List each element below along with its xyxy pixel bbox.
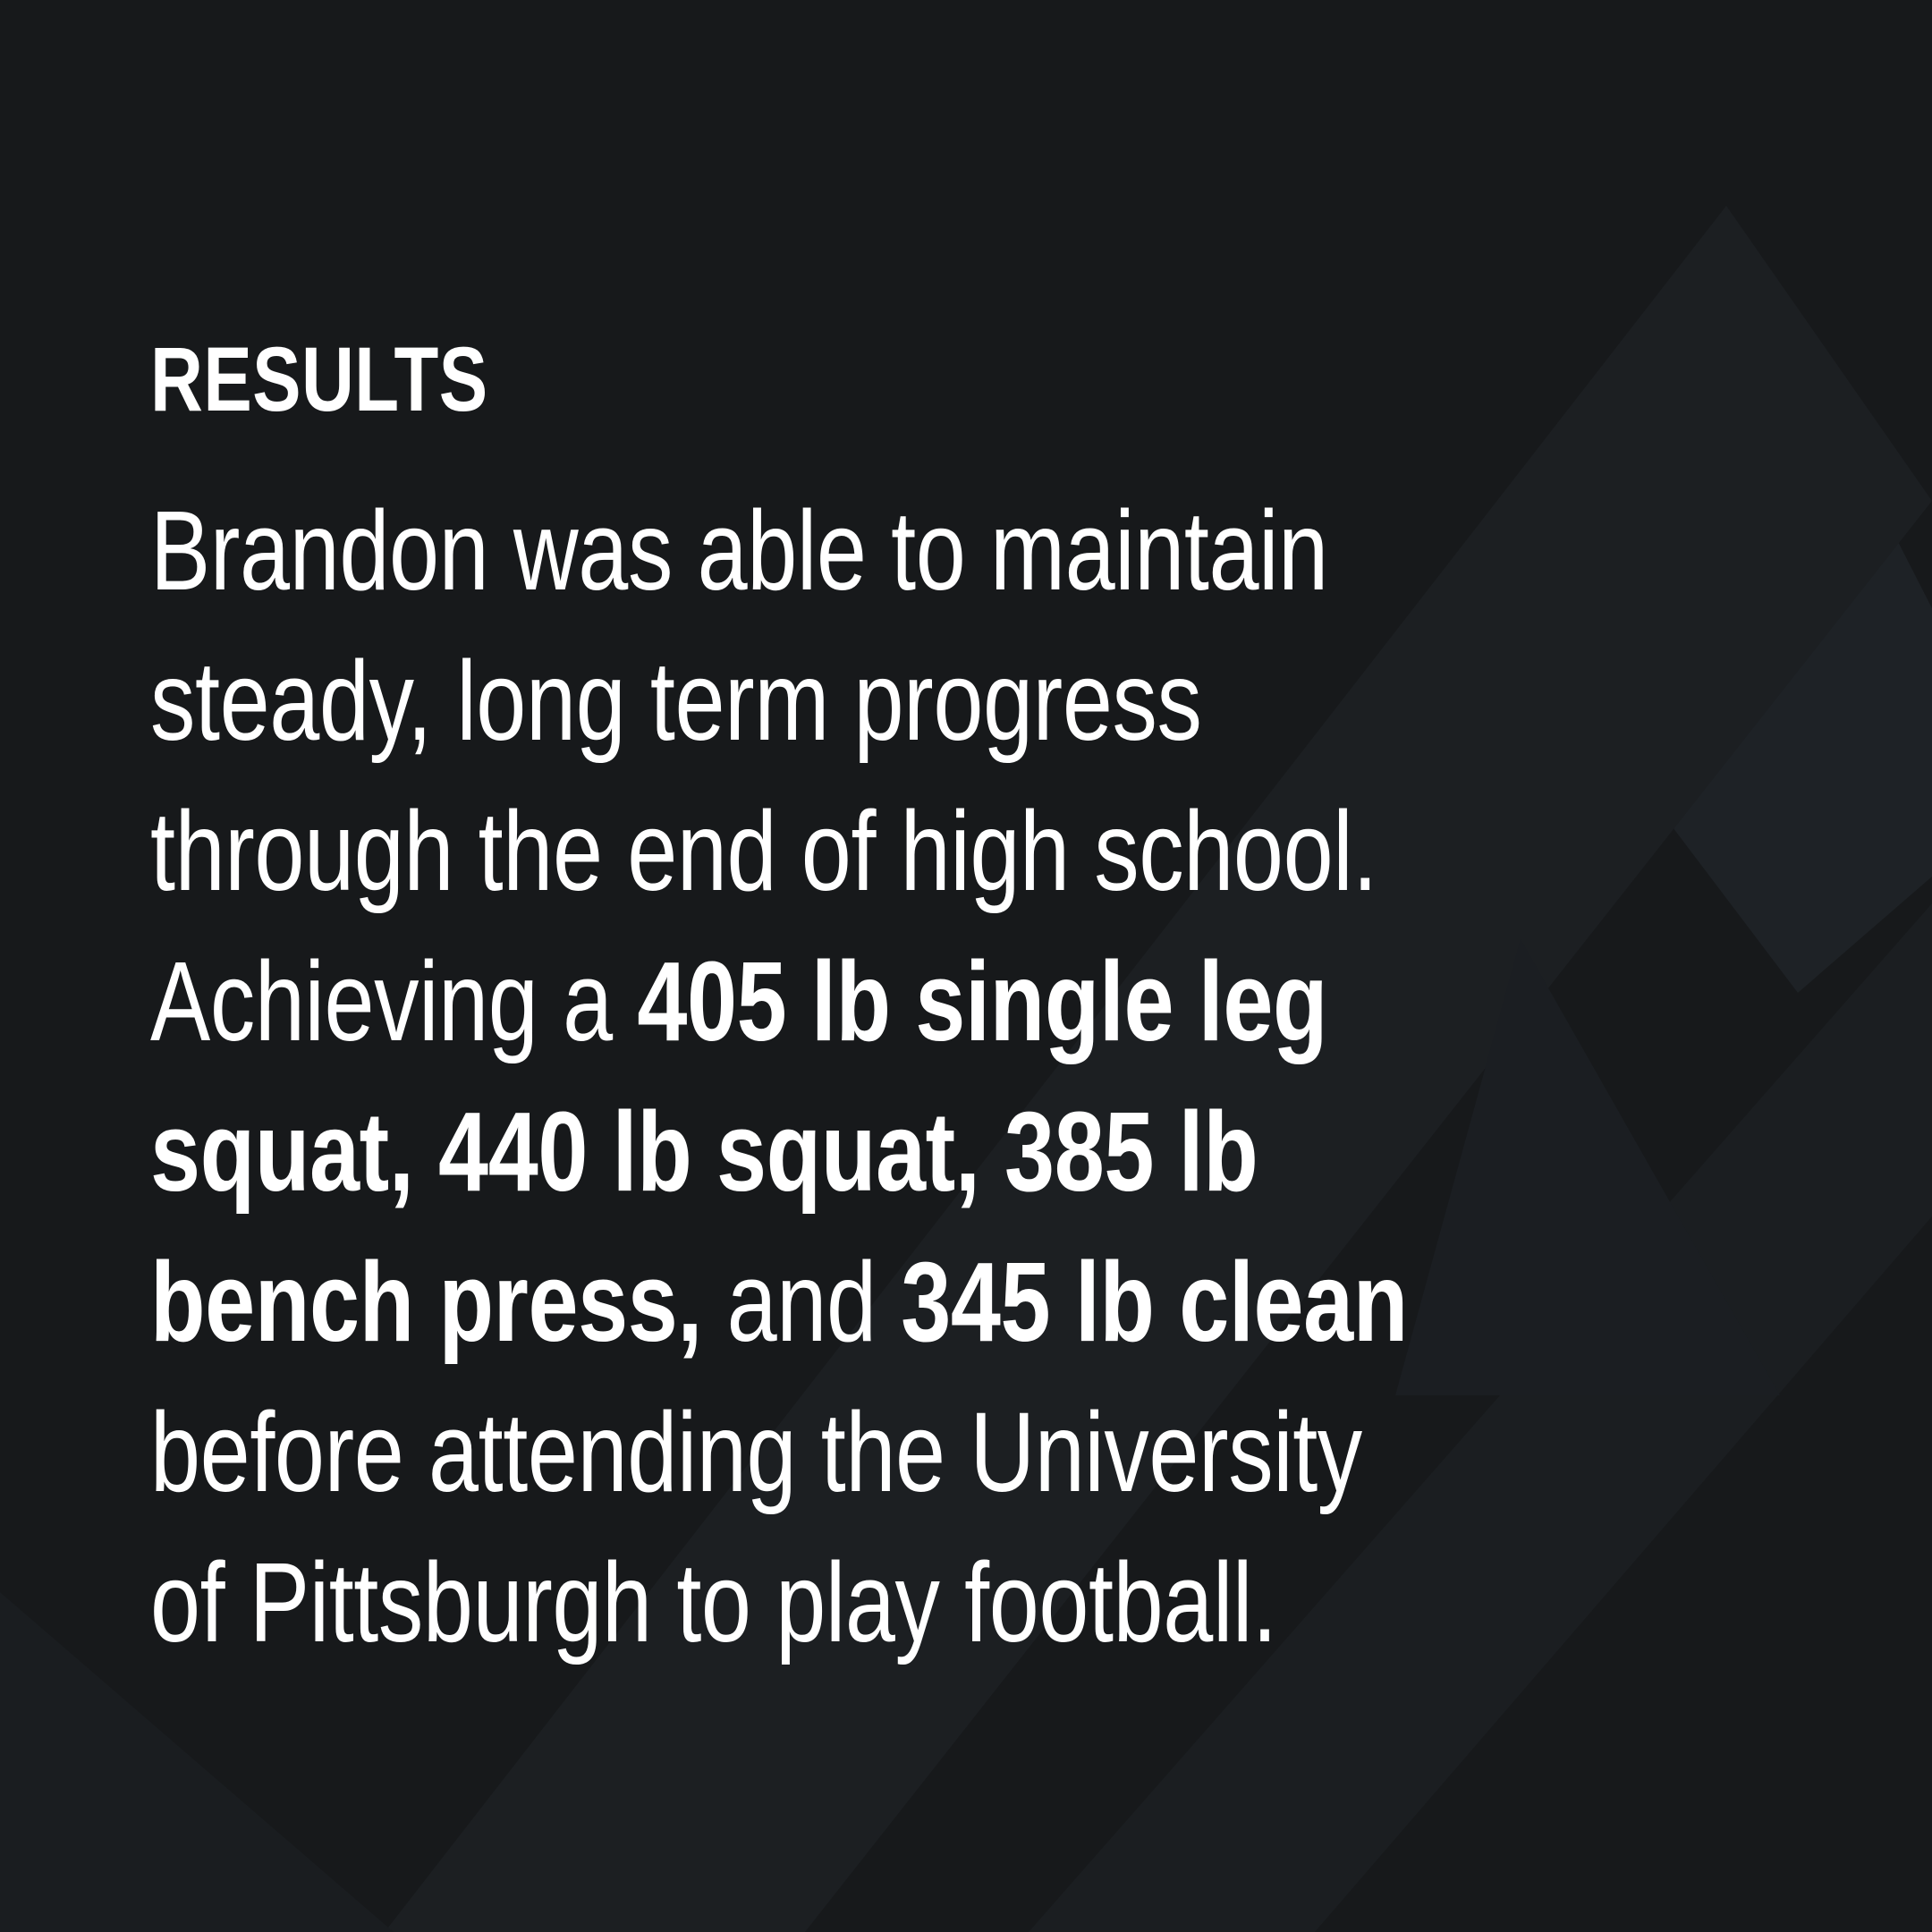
text-run: and: [702, 1239, 901, 1365]
text-run: through the end of high school.: [150, 788, 1377, 914]
text-run: steady, long term progress: [150, 638, 1201, 764]
highlight-run: squat, 440 lb squat, 385 lb: [150, 1089, 1258, 1215]
text-run: Achieving a: [150, 938, 637, 1064]
paragraph-line: squat, 440 lb squat, 385 lb: [150, 1077, 1810, 1227]
paragraph-line: Achieving a 405 lb single leg: [150, 927, 1810, 1077]
text-run: Brandon was able to maintain: [150, 487, 1328, 614]
results-paragraph: Brandon was able to maintain steady, lon…: [150, 476, 1810, 1678]
results-card: RESULTS Brandon was able to maintain ste…: [0, 0, 1932, 1932]
paragraph-line: Brandon was able to maintain: [150, 476, 1810, 626]
highlight-run: 345 lb clean: [901, 1239, 1408, 1365]
paragraph-line: through the end of high school.: [150, 776, 1810, 927]
page-title: RESULTS: [150, 329, 1481, 429]
highlight-run: 405 lb single leg: [637, 938, 1327, 1064]
paragraph-line: bench press, and 345 lb clean: [150, 1227, 1810, 1377]
highlight-run: bench press,: [150, 1239, 702, 1365]
paragraph-line: of Pittsburgh to play football.: [150, 1528, 1810, 1678]
text-run: of Pittsburgh to play football.: [150, 1539, 1277, 1665]
paragraph-line: before attending the University: [150, 1377, 1810, 1528]
paragraph-line: steady, long term progress: [150, 626, 1810, 776]
text-content: RESULTS Brandon was able to maintain ste…: [150, 329, 1814, 1678]
text-run: before attending the University: [150, 1389, 1362, 1515]
